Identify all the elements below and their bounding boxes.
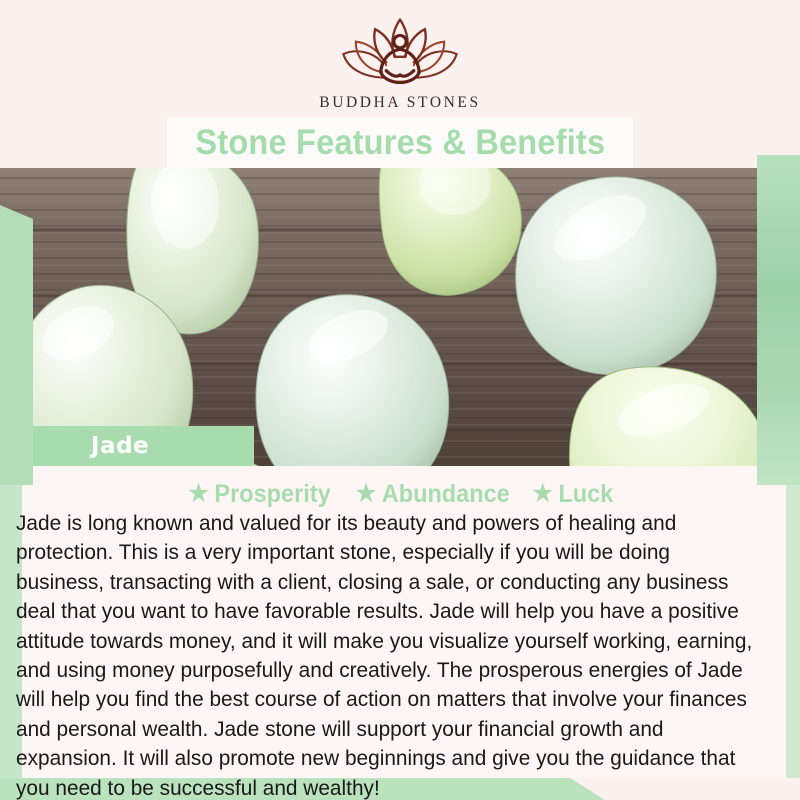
stone-name: Jade [91,433,149,459]
benefit-item: ★ Prosperity [188,480,330,509]
description-text: Jade is long known and valued for its be… [16,508,761,800]
stone-name-tag: Jade [33,426,254,466]
benefit-item: ★ Luck [533,480,614,509]
stone-photo [0,168,800,466]
brand-name: BUDDHA STONES [319,94,480,112]
lotus-meditation-icon [330,14,470,90]
benefit-item: ★ Abundance [356,480,510,509]
product-info-card: BUDDHA STONES Stone Features & Benefits [0,0,800,800]
jade-stones-illustration [0,168,800,466]
star-icon: ★ [533,482,553,506]
brand-logo: BUDDHA STONES [0,14,800,112]
star-icon: ★ [356,482,376,506]
benefits-list: ★ Prosperity ★ Abundance ★ Luck [0,479,800,509]
decor-bar-left [0,205,33,485]
decor-edge-right [786,466,800,778]
star-icon: ★ [188,482,208,506]
card-header: BUDDHA STONES Stone Features & Benefits [0,0,800,168]
section-title-banner: Stone Features & Benefits [167,118,633,168]
benefit-label: Luck [559,480,614,509]
benefit-label: Abundance [382,480,510,509]
page-title: Stone Features & Benefits [195,123,605,163]
benefit-label: Prosperity [214,480,330,509]
decor-bar-right [757,155,800,485]
